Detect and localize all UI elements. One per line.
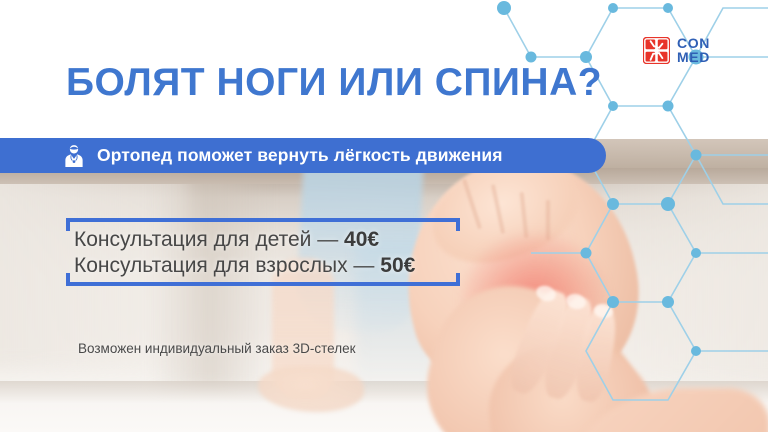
conmed-logo-mark-icon xyxy=(643,37,670,64)
brand-logo[interactable]: CON MED xyxy=(643,36,710,65)
price-box-border-bottom xyxy=(66,282,460,286)
price-box-corner-bottom-left xyxy=(66,273,70,286)
price-box: Консультация для детей — 40€ Консультаци… xyxy=(66,218,460,286)
brand-logo-line2: MED xyxy=(677,50,710,64)
doctor-icon xyxy=(63,144,85,168)
price-line-children: Консультация для детей — 40€ xyxy=(74,228,379,252)
price-line-children-value: 40€ xyxy=(344,228,379,251)
price-box-corner-top-right xyxy=(456,218,460,231)
price-line-adults-value: 50€ xyxy=(380,254,415,277)
subtitle-banner-text: Ортопед поможет вернуть лёгкость движени… xyxy=(97,145,503,166)
price-line-adults-label: Консультация для взрослых — xyxy=(74,254,380,277)
insoles-note: Возможен индивидуальный заказ 3D-стелек xyxy=(78,341,356,356)
page-title: БОЛЯТ НОГИ ИЛИ СПИНА? xyxy=(66,61,602,105)
price-box-corner-bottom-right xyxy=(456,273,460,286)
price-line-adults: Консультация для взрослых — 50€ xyxy=(74,254,415,278)
promo-banner: БОЛЯТ НОГИ ИЛИ СПИНА? CON MED Ор xyxy=(0,0,768,432)
price-line-children-label: Консультация для детей — xyxy=(74,228,344,251)
subtitle-banner: Ортопед поможет вернуть лёгкость движени… xyxy=(0,138,606,173)
price-box-corner-top-left xyxy=(66,218,70,231)
brand-logo-text: CON MED xyxy=(677,36,710,65)
brand-logo-line1: CON xyxy=(677,36,710,50)
price-box-border-top xyxy=(66,218,460,222)
